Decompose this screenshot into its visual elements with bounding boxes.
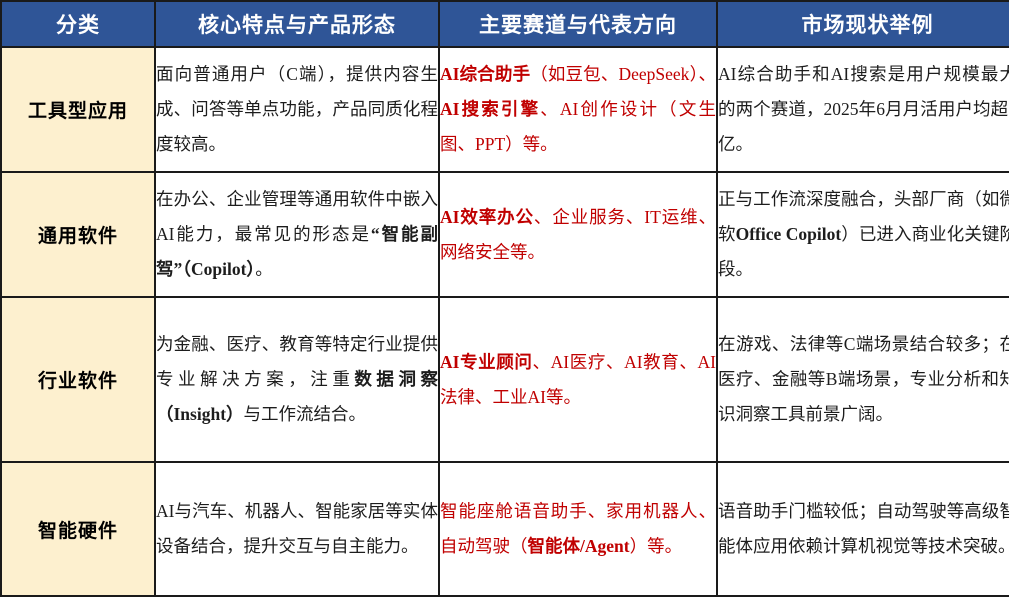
cell-tracks-text: 智能座舱语音助手、家用机器人、自动驾驶（智能体/Agent）等。: [440, 501, 716, 556]
cell-market-text: AI综合助手和AI搜索是用户规模最大的两个赛道，2025年6月月活用户均超6亿。: [718, 64, 1009, 154]
cell-category: 工具型应用: [1, 47, 155, 172]
ai-application-categories-table: 分类 核心特点与产品形态 主要赛道与代表方向 市场现状举例 工具型应用 面向普通…: [0, 0, 1009, 597]
cell-market: 语音助手门槛较低；自动驾驶等高级智能体应用依赖计算机视觉等技术突破。: [717, 462, 1009, 596]
cell-features: 为金融、医疗、教育等特定行业提供专业解决方案，注重数据洞察（Insight）与工…: [155, 297, 439, 462]
cell-features-text: AI与汽车、机器人、智能家居等实体设备结合，提升交互与自主能力。: [156, 501, 438, 556]
cell-market-text: 正与工作流深度融合，头部厂商（如微软Office Copilot）已进入商业化关…: [718, 189, 1009, 279]
cell-tracks-text: AI专业顾问、AI医疗、AI教育、AI法律、工业AI等。: [440, 352, 716, 407]
cell-tracks: AI综合助手（如豆包、DeepSeek）、AI搜索引擎、AI创作设计（文生图、P…: [439, 47, 717, 172]
cell-tracks: AI效率办公、企业服务、IT运维、网络安全等。: [439, 172, 717, 297]
cell-category: 通用软件: [1, 172, 155, 297]
cell-category: 行业软件: [1, 297, 155, 462]
cell-market: 在游戏、法律等C端场景结合较多；在医疗、金融等B端场景，专业分析和知识洞察工具前…: [717, 297, 1009, 462]
cell-market: 正与工作流深度融合，头部厂商（如微软Office Copilot）已进入商业化关…: [717, 172, 1009, 297]
cell-category: 智能硬件: [1, 462, 155, 596]
table-row: 通用软件 在办公、企业管理等通用软件中嵌入AI能力，最常见的形态是“智能副驾”（…: [1, 172, 1009, 297]
cell-features: AI与汽车、机器人、智能家居等实体设备结合，提升交互与自主能力。: [155, 462, 439, 596]
table-row: 工具型应用 面向普通用户（C端），提供内容生成、问答等单点功能，产品同质化程度较…: [1, 47, 1009, 172]
column-header-category: 分类: [1, 1, 155, 47]
cell-market-text: 在游戏、法律等C端场景结合较多；在医疗、金融等B端场景，专业分析和知识洞察工具前…: [718, 334, 1009, 424]
table-header: 分类 核心特点与产品形态 主要赛道与代表方向 市场现状举例: [1, 1, 1009, 47]
cell-features: 在办公、企业管理等通用软件中嵌入AI能力，最常见的形态是“智能副驾”（Copil…: [155, 172, 439, 297]
cell-market: AI综合助手和AI搜索是用户规模最大的两个赛道，2025年6月月活用户均超6亿。: [717, 47, 1009, 172]
table-container: 分类 核心特点与产品形态 主要赛道与代表方向 市场现状举例 工具型应用 面向普通…: [0, 0, 1009, 594]
cell-features-text: 在办公、企业管理等通用软件中嵌入AI能力，最常见的形态是“智能副驾”（Copil…: [156, 189, 438, 279]
cell-tracks: AI专业顾问、AI医疗、AI教育、AI法律、工业AI等。: [439, 297, 717, 462]
table-body: 工具型应用 面向普通用户（C端），提供内容生成、问答等单点功能，产品同质化程度较…: [1, 47, 1009, 596]
column-header-tracks: 主要赛道与代表方向: [439, 1, 717, 47]
column-header-features: 核心特点与产品形态: [155, 1, 439, 47]
cell-tracks-text: AI综合助手（如豆包、DeepSeek）、AI搜索引擎、AI创作设计（文生图、P…: [440, 64, 716, 154]
cell-features: 面向普通用户（C端），提供内容生成、问答等单点功能，产品同质化程度较高。: [155, 47, 439, 172]
cell-tracks: 智能座舱语音助手、家用机器人、自动驾驶（智能体/Agent）等。: [439, 462, 717, 596]
cell-market-text: 语音助手门槛较低；自动驾驶等高级智能体应用依赖计算机视觉等技术突破。: [718, 501, 1009, 556]
cell-features-text: 面向普通用户（C端），提供内容生成、问答等单点功能，产品同质化程度较高。: [156, 64, 438, 154]
table-row: 行业软件 为金融、医疗、教育等特定行业提供专业解决方案，注重数据洞察（Insig…: [1, 297, 1009, 462]
column-header-market: 市场现状举例: [717, 1, 1009, 47]
cell-tracks-text: AI效率办公、企业服务、IT运维、网络安全等。: [440, 207, 716, 262]
header-row: 分类 核心特点与产品形态 主要赛道与代表方向 市场现状举例: [1, 1, 1009, 47]
cell-features-text: 为金融、医疗、教育等特定行业提供专业解决方案，注重数据洞察（Insight）与工…: [156, 334, 438, 424]
table-row: 智能硬件 AI与汽车、机器人、智能家居等实体设备结合，提升交互与自主能力。 智能…: [1, 462, 1009, 596]
